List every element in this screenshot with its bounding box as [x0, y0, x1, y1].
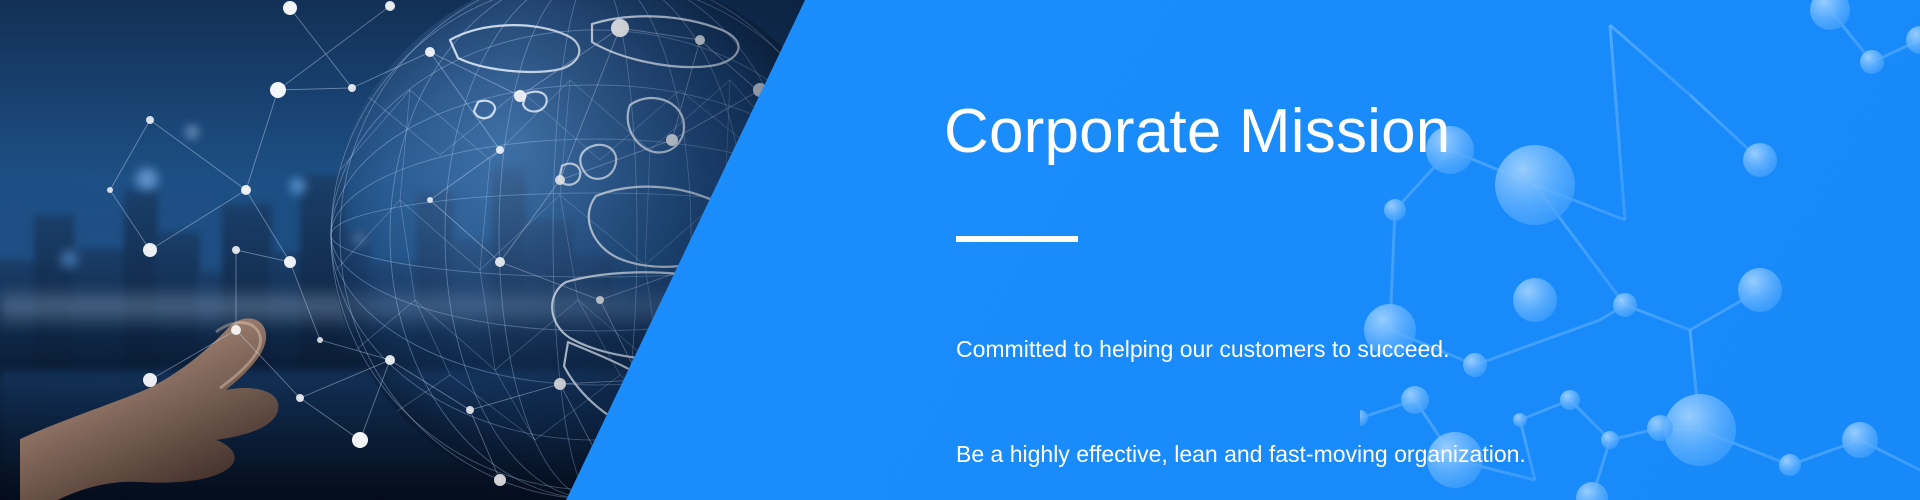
mission-line: Committed to helping our customers to su… [956, 332, 1656, 367]
title-divider [956, 236, 1078, 242]
page-title: Corporate Mission [944, 96, 1450, 168]
mission-line: Be a highly effective, lean and fast-mov… [956, 437, 1656, 472]
banner-content: Corporate Mission Committed to helping o… [944, 0, 1864, 500]
corporate-mission-banner: Corporate Mission Committed to helping o… [0, 0, 1920, 500]
mission-statement: Committed to helping our customers to su… [956, 262, 1656, 500]
